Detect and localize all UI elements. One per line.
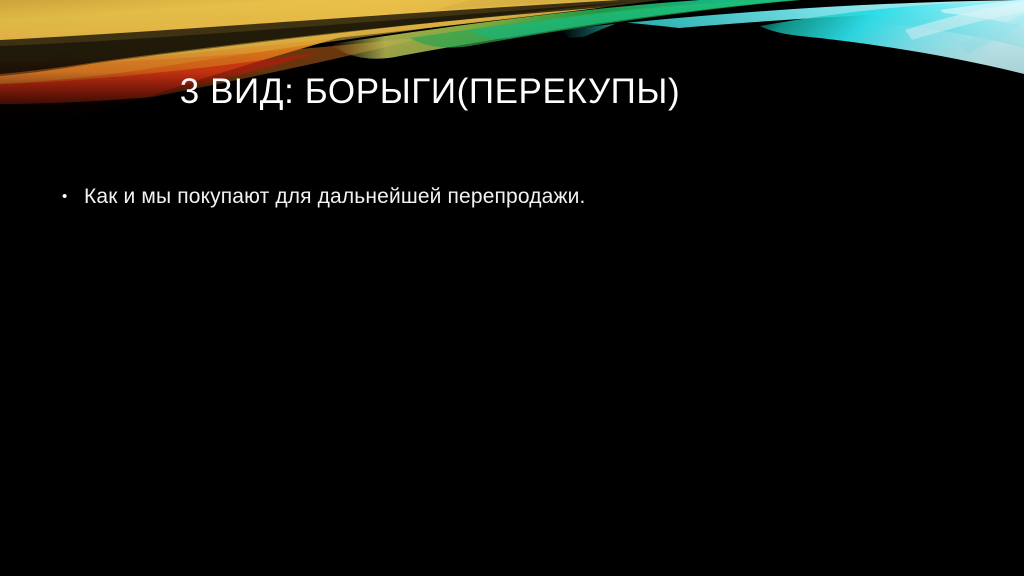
presentation-slide: 3 ВИД: БОРЫГИ(ПЕРЕКУПЫ) • Как и мы покуп…: [0, 0, 1024, 576]
slide-title: 3 ВИД: БОРЫГИ(ПЕРЕКУПЫ): [60, 72, 800, 112]
bullet-point-icon: •: [62, 182, 84, 212]
bullet-item-text: Как и мы покупают для дальнейшей перепро…: [84, 182, 586, 212]
list-item: • Как и мы покупают для дальнейшей переп…: [62, 182, 962, 212]
slide-title-text: 3 ВИД: БОРЫГИ(ПЕРЕКУПЫ): [180, 72, 681, 112]
slide-body: • Как и мы покупают для дальнейшей переп…: [62, 182, 962, 222]
